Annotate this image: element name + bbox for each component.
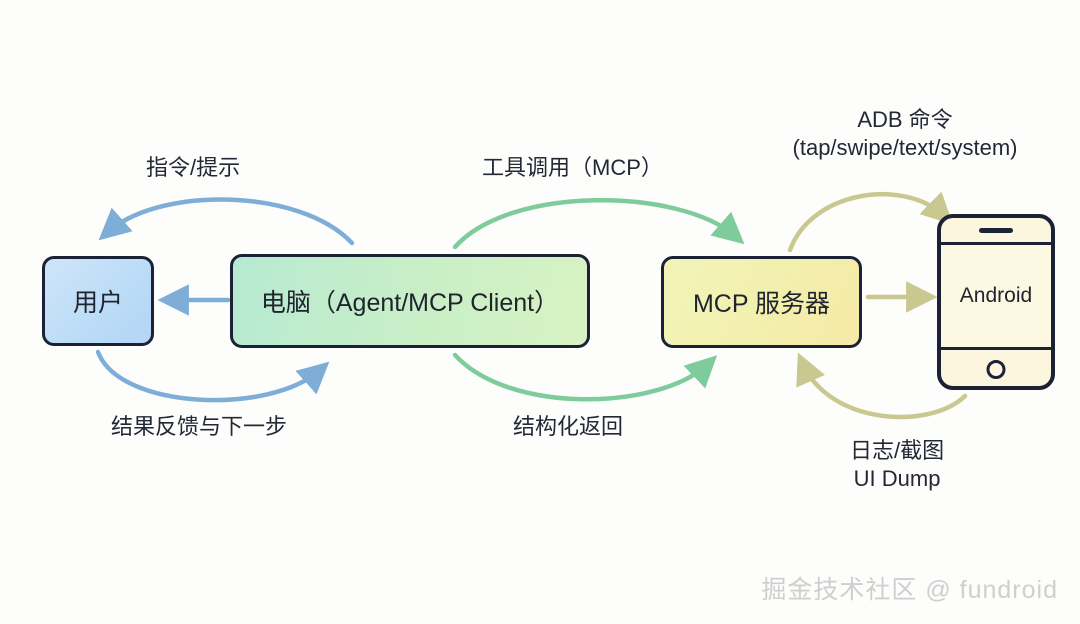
edge-label-feedback: 结果反馈与下一步 — [111, 413, 287, 441]
mcp-server-node[interactable]: MCP 服务器 — [661, 256, 862, 348]
computer-node[interactable]: 电脑（Agent/MCP Client） — [230, 254, 590, 348]
watermark: 掘金技术社区 @ fundroid — [761, 570, 1058, 606]
phone-home-button-icon[interactable] — [987, 360, 1006, 379]
edge-label-structured-return: 结构化返回 — [513, 413, 623, 441]
edge-adb-command-arrow — [790, 194, 944, 250]
edge-label-logs-line1: 日志/截图 — [850, 437, 944, 465]
edge-label-instruction: 指令/提示 — [146, 154, 240, 182]
computer-node-label: 电脑（Agent/MCP Client） — [261, 283, 559, 319]
diagram-canvas: 用户 电脑（Agent/MCP Client） MCP 服务器 Android … — [0, 0, 1080, 624]
edge-tool-call-arrow — [455, 200, 735, 247]
mcp-server-node-label: MCP 服务器 — [693, 284, 830, 320]
edge-feedback-arrow — [98, 352, 320, 400]
user-node-label: 用户 — [73, 283, 123, 319]
edge-label-adb-command: ADB 命令 (tap/swipe/text/system) — [760, 106, 1050, 162]
phone-screen: Android — [941, 242, 1051, 350]
edge-label-logs-line2: UI Dump — [850, 465, 944, 493]
edge-label-logs-return: 日志/截图 UI Dump — [850, 437, 944, 493]
edge-label-tool-call: 工具调用（MCP） — [482, 154, 663, 182]
edge-label-adb-line1: ADB 命令 — [760, 106, 1050, 134]
edge-instruction-arrow — [108, 199, 352, 243]
edge-structured-return-arrow — [455, 355, 708, 399]
android-device-node[interactable]: Android — [937, 214, 1055, 390]
user-node[interactable]: 用户 — [42, 256, 154, 346]
android-device-label: Android — [960, 284, 1032, 308]
phone-speaker-icon — [979, 228, 1013, 233]
edge-label-adb-line2: (tap/swipe/text/system) — [760, 134, 1050, 162]
